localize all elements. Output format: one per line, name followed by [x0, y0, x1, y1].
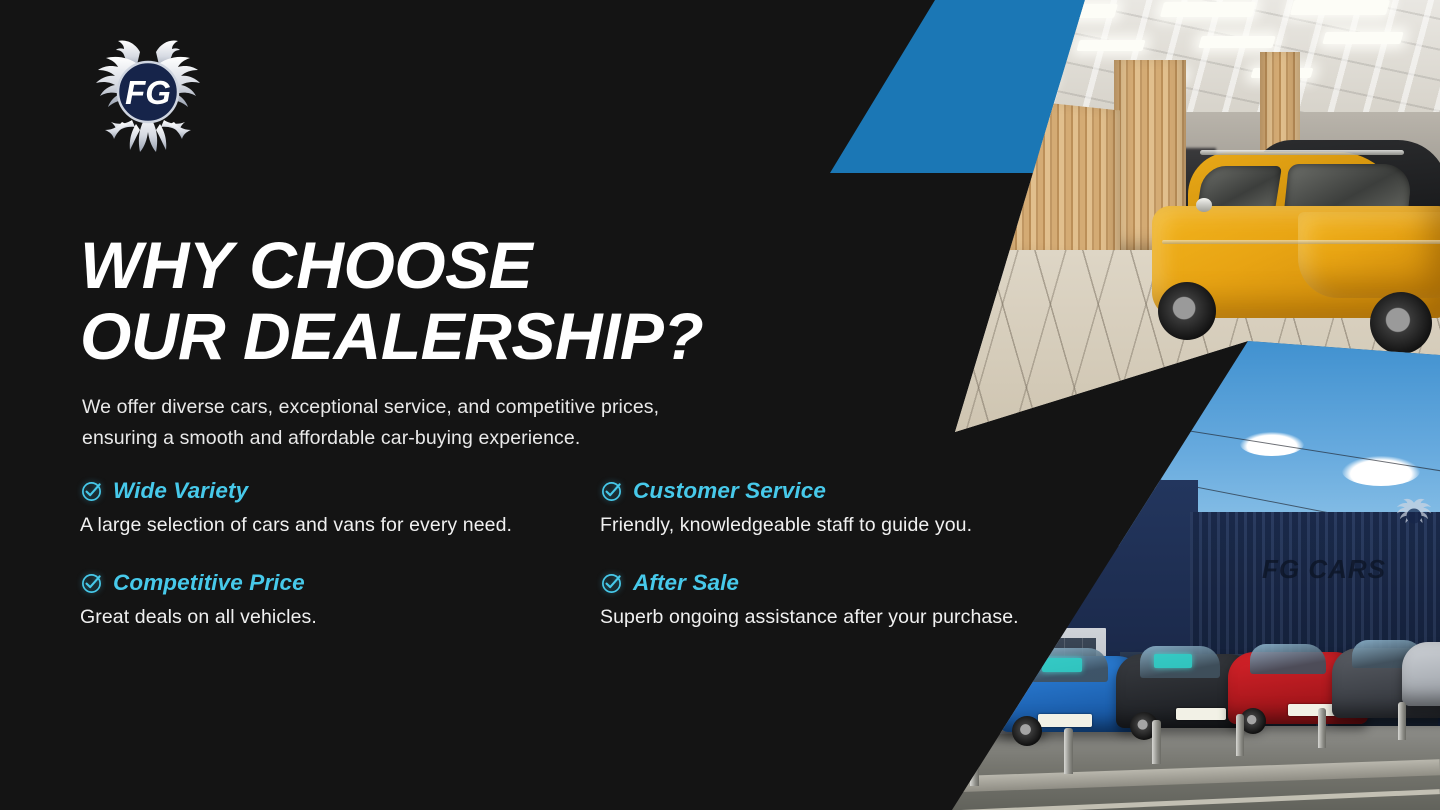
- cloud: [1342, 456, 1420, 486]
- bollard: [1236, 714, 1244, 756]
- ceiling-light: [1127, 72, 1186, 81]
- showroom-tiled-floor: [900, 250, 1440, 450]
- feature-description: Great deals on all vehicles.: [80, 606, 600, 629]
- car-wheel: [1240, 708, 1266, 734]
- dealership-building-wing: [1190, 512, 1440, 732]
- number-plate: [1038, 714, 1092, 727]
- feature-title: Customer Service: [633, 478, 826, 504]
- ceiling-light: [1251, 68, 1314, 78]
- showroom-service-bay: [914, 150, 1114, 260]
- promo-poster: FG FG CARS: [0, 0, 1440, 810]
- forecourt-car-silver: [1402, 642, 1440, 706]
- feature-description: Friendly, knowledgeable staff to guide y…: [600, 514, 1090, 537]
- ceiling-light: [1322, 32, 1403, 44]
- check-circle-icon: [600, 479, 624, 503]
- ceiling-light: [1160, 2, 1256, 17]
- cloud: [1240, 432, 1304, 456]
- feature-title: Competitive Price: [113, 570, 305, 596]
- fg-eagle-crest-logo: FG: [78, 22, 218, 162]
- number-plate: [1176, 708, 1226, 720]
- feature-after-sale: After Sale Superb ongoing assistance aft…: [600, 568, 1090, 660]
- forecourt-car-red: [1228, 652, 1368, 724]
- headline-line-1: WHY CHOOSE: [80, 230, 860, 301]
- kerb: [940, 759, 1440, 792]
- overhead-wire: [1060, 410, 1440, 477]
- number-plate: [1288, 704, 1336, 716]
- classic-car-roof: [1188, 152, 1402, 220]
- feature-description: A large selection of cars and vans for e…: [80, 514, 600, 537]
- intro-line-2: ensuring a smooth and affordable car-buy…: [82, 423, 842, 455]
- classic-car-wheel: [1158, 282, 1216, 340]
- intro-paragraph: We offer diverse cars, exceptional servi…: [82, 392, 842, 455]
- side-bay-opening: [1332, 658, 1438, 732]
- ceiling-light: [1030, 4, 1118, 18]
- windshield: [1283, 164, 1413, 220]
- car-windshield: [1250, 644, 1326, 674]
- car-wheel: [1130, 712, 1158, 740]
- wood-slat-column: [1114, 60, 1186, 256]
- wood-slat-column: [1260, 52, 1300, 184]
- feature-heading: Customer Service: [600, 476, 1090, 506]
- bollard: [970, 736, 979, 786]
- feature-customer-service: Customer Service Friendly, knowledgeable…: [600, 476, 1090, 568]
- ceiling-light: [1290, 0, 1390, 15]
- feature-heading: Wide Variety: [80, 476, 600, 506]
- feature-title: After Sale: [633, 570, 739, 596]
- wing-mirror: [1196, 198, 1212, 212]
- car-windshield: [946, 666, 1010, 696]
- feature-title: Wide Variety: [113, 478, 248, 504]
- bollard: [1064, 728, 1073, 774]
- side-bay-opening: [1120, 652, 1190, 732]
- chrome-roof-rail: [1200, 150, 1404, 155]
- car-wheel: [944, 720, 970, 746]
- forecourt-car-silver: [922, 672, 1046, 734]
- feature-heading: After Sale: [600, 568, 1090, 598]
- ceiling-light: [958, 44, 1019, 55]
- flag: [1116, 358, 1140, 434]
- side-bay-opening: [1206, 654, 1316, 732]
- wood-slat-wall: [996, 97, 1120, 280]
- column-plinth: [992, 261, 1128, 295]
- bollard: [1152, 720, 1161, 764]
- feature-wide-variety: Wide Variety A large selection of cars a…: [80, 476, 600, 568]
- feature-heading: Competitive Price: [80, 568, 600, 598]
- road-marking: [940, 789, 1440, 810]
- headline-line-2: OUR DEALERSHIP?: [80, 301, 860, 372]
- bollard: [1318, 708, 1326, 748]
- feature-description: Superb ongoing assistance after your pur…: [600, 606, 1090, 629]
- forecourt-tarmac: [940, 726, 1440, 810]
- showroom-ceiling: [900, 0, 1440, 120]
- background-dark-car: [1252, 140, 1440, 226]
- showroom-scene: [900, 0, 1440, 440]
- number-plate: [948, 714, 1000, 726]
- chrome-trim: [1162, 240, 1440, 244]
- logo-monogram: FG: [125, 74, 171, 111]
- classic-car-body: [1152, 206, 1440, 318]
- forecourt-car-grey: [1332, 648, 1440, 718]
- ceiling-light: [1076, 40, 1145, 51]
- check-circle-icon: [600, 571, 624, 595]
- check-circle-icon: [80, 479, 104, 503]
- car-windshield: [1352, 640, 1424, 668]
- overhead-wire: [1070, 462, 1440, 539]
- features-grid: Wide Variety A large selection of cars a…: [80, 476, 1090, 660]
- building-secondary-crest-icon: [1392, 496, 1436, 536]
- flagpole: [1136, 344, 1139, 514]
- page-title: WHY CHOOSE OUR DEALERSHIP?: [80, 230, 860, 371]
- showroom-back-wall: [900, 112, 1440, 232]
- cloud: [1008, 444, 1094, 480]
- check-circle-icon: [80, 571, 104, 595]
- windscreen-price-display: [1154, 654, 1192, 668]
- windscreen-price-display: [1042, 658, 1082, 672]
- cloud: [1090, 468, 1160, 496]
- car-windshield: [1140, 646, 1220, 678]
- side-window: [1196, 166, 1282, 216]
- forecourt-car-black: [1116, 654, 1262, 728]
- intro-line-1: We offer diverse cars, exceptional servi…: [82, 392, 842, 424]
- showroom-service-bay: [1096, 148, 1216, 234]
- bollard: [1398, 702, 1406, 740]
- classic-car-bonnet: [1298, 212, 1440, 298]
- ceiling-light: [1198, 36, 1275, 48]
- forecourt-car-blue: [1000, 656, 1150, 732]
- ceiling-light: [916, 8, 990, 21]
- classic-car-wheel: [1370, 292, 1432, 354]
- building-sign: FG CARS: [1262, 554, 1386, 585]
- feature-competitive-price: Competitive Price Great deals on all veh…: [80, 568, 600, 660]
- car-wheel: [1012, 716, 1042, 746]
- ceiling-light: [1001, 76, 1054, 85]
